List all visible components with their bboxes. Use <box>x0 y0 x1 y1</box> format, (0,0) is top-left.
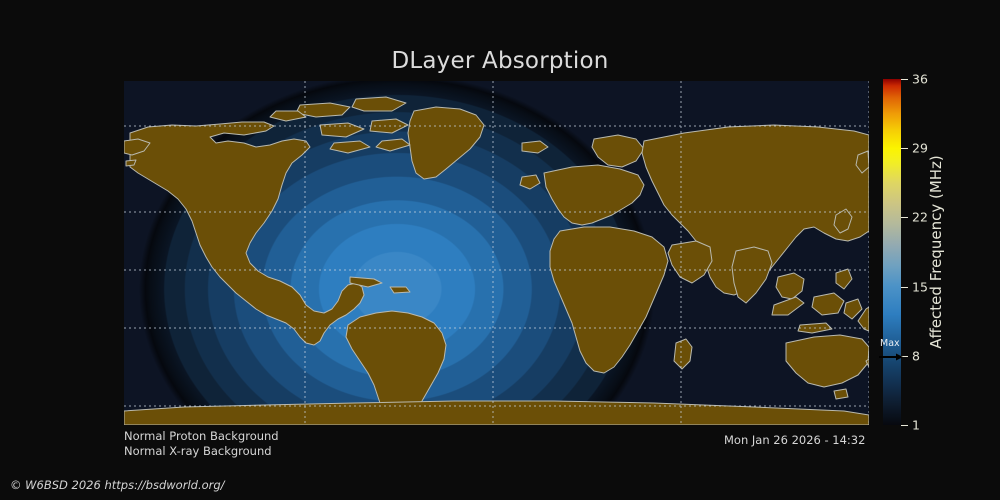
world-map <box>124 81 869 425</box>
map-panel[interactable] <box>124 81 869 425</box>
proton-background-note: Normal Proton Background <box>124 429 279 444</box>
colorbar-axis-title-text: Affected Frequency (MHz) <box>927 155 945 349</box>
page-title: DLayer Absorption <box>0 48 1000 74</box>
status-notes: Normal Proton Background Normal X-ray Ba… <box>124 429 279 459</box>
colorbar-tick-8 <box>901 356 908 357</box>
colorbar-tick-label-8: 8 <box>912 348 920 363</box>
application-root: DLayer Absorption <box>0 0 1000 500</box>
copyright-label: © W6BSD 2026 https://bsdworld.org/ <box>10 478 225 492</box>
colorbar-tick-36 <box>901 79 908 80</box>
land-tasmania <box>834 389 848 399</box>
colorbar-tick-22 <box>901 217 908 218</box>
colorbar-tick-29 <box>901 148 908 149</box>
xray-background-note: Normal X-ray Background <box>124 444 279 459</box>
colorbar-tick-15 <box>901 287 908 288</box>
colorbar-gradient <box>883 79 901 425</box>
land-hispaniola <box>390 287 410 293</box>
colorbar-tick-1 <box>901 425 908 426</box>
colorbar-axis-title: Affected Frequency (MHz) <box>925 79 947 425</box>
land-arctic-island-1 <box>296 103 350 117</box>
colorbar[interactable]: 1815222936 Max <box>883 79 901 425</box>
timestamp-label: Mon Jan 26 2026 - 14:32 <box>724 433 865 447</box>
colorbar-tick-label-1: 1 <box>912 418 920 433</box>
